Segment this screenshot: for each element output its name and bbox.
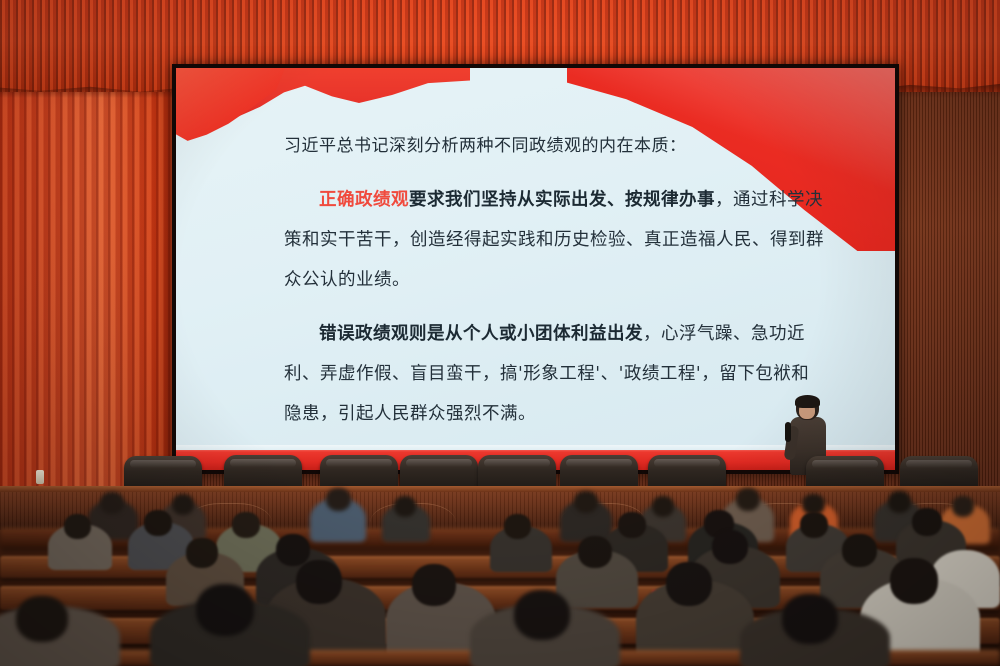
audience-head [574,491,598,513]
audience-head [782,594,838,644]
audience-head [172,494,194,515]
highlight-wrong-view: 错误政绩观 [319,324,409,344]
audience-head [800,512,828,538]
audience-head [296,560,342,604]
bold-run-correct-view: 要求我们坚持从实际出发、按规律办事 [409,190,715,210]
audience-head [64,514,91,539]
head-table-edge [0,486,1000,492]
audience-head [504,514,531,539]
presenter-hair [795,395,820,408]
audience-head [394,496,416,517]
audience-head [16,596,68,642]
audience-head [186,538,218,568]
slide-text-block: 习近平总书记深刻分析两种不同政绩观的内在本质： 正确政绩观要求我们坚持从实际出发… [284,126,824,434]
slide-paragraph-correct-view: 正确政绩观要求我们坚持从实际出发、按规律办事，通过科学决策和实干苦干，创造经得起… [284,180,824,300]
audience-head [736,488,760,511]
audience-head [652,496,674,517]
audience-head [890,558,938,604]
audience-head [276,534,310,566]
audience-head [712,530,748,564]
audience-head [618,512,646,538]
audience-head [578,536,612,568]
slide-paragraph-wrong-view: 错误政绩观则是从个人或小团体利益出发，心浮气躁、急功近利、弄虚作假、盲目蛮干，搞… [284,314,824,434]
audience-head [412,564,456,606]
bold-run-wrong-view: 则是从个人或小团体利益出发 [409,324,643,344]
audience-head [952,496,974,517]
audience-head [326,488,351,511]
audience-head [912,508,942,536]
audience-head [196,584,254,636]
highlight-correct-view: 正确政绩观 [319,190,409,210]
audience-head [232,512,260,538]
handheld-microphone-icon [785,422,791,442]
audience-head [666,562,712,606]
slide-heading: 习近平总书记深刻分析两种不同政绩观的内在本质： [284,126,824,166]
audience-head [144,510,172,536]
audience-head [842,534,877,567]
red-ribbon-fold-icon [176,68,286,144]
audience-head [100,492,124,514]
audience-head [888,491,911,513]
audience-head [514,590,570,640]
conference-hall-scene: 习近平总书记深刻分析两种不同政绩观的内在本质： 正确政绩观要求我们坚持从实际出发… [0,0,1000,666]
water-cup [36,470,44,484]
